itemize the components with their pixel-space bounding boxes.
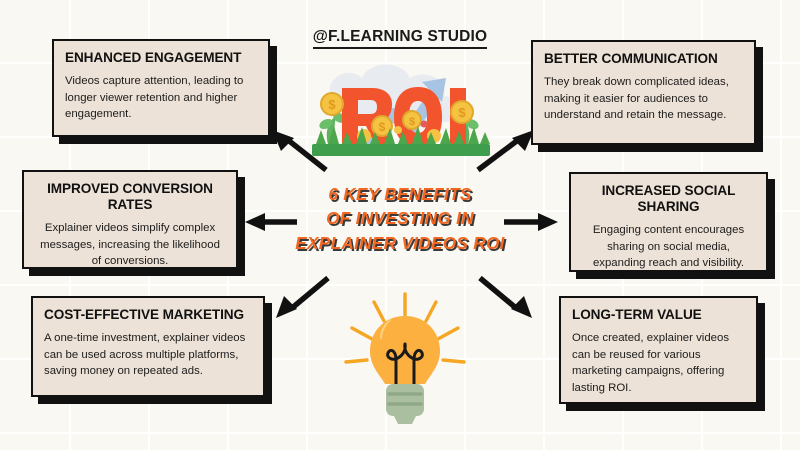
arrow-left bbox=[243, 210, 299, 234]
bulb-base bbox=[386, 384, 424, 424]
benefit-card-long-term-value[interactable]: LONG-TERM VALUE Once created, explainer … bbox=[559, 296, 758, 404]
svg-text:$: $ bbox=[328, 97, 336, 112]
roi-growth-illustration: $ $ $ $ bbox=[306, 52, 496, 162]
benefit-card-title: COST-EFFECTIVE MARKETING bbox=[44, 307, 252, 323]
arrow-up-left bbox=[268, 128, 334, 176]
benefit-card-body: A one-time investment, explainer videos … bbox=[44, 330, 252, 380]
arrow-down-right bbox=[474, 272, 536, 320]
benefit-card-body: Explainer videos simplify complex messag… bbox=[35, 220, 225, 270]
studio-handle-text: @F.LEARNING STUDIO bbox=[313, 28, 488, 49]
main-title-line-1: 6 KEY BENEFITS bbox=[276, 182, 524, 206]
benefit-card-improved-conversion-rates[interactable]: IMPROVED CONVERSION RATES Explainer vide… bbox=[22, 170, 238, 269]
lightbulb-idea-illustration bbox=[340, 288, 470, 430]
benefit-card-body: They break down complicated ideas, makin… bbox=[544, 74, 743, 124]
benefit-card-better-communication[interactable]: BETTER COMMUNICATION They break down com… bbox=[531, 40, 756, 145]
benefit-card-title: IMPROVED CONVERSION RATES bbox=[35, 181, 225, 213]
coin-icon: $ bbox=[403, 111, 421, 129]
coin-icon: $ bbox=[321, 93, 343, 115]
svg-text:$: $ bbox=[458, 105, 466, 120]
benefit-card-title: ENHANCED ENGAGEMENT bbox=[65, 50, 257, 66]
benefit-card-enhanced-engagement[interactable]: ENHANCED ENGAGEMENT Videos capture atten… bbox=[52, 39, 270, 137]
coin-icon: $ bbox=[451, 101, 473, 123]
main-title-line-3: EXPLAINER VIDEOS ROI bbox=[276, 231, 524, 255]
svg-text:$: $ bbox=[409, 116, 415, 128]
main-title: 6 KEY BENEFITS OF INVESTING IN EXPLAINER… bbox=[276, 182, 524, 255]
benefit-card-body: Engaging content encourages sharing on s… bbox=[582, 222, 755, 272]
benefit-card-title: BETTER COMMUNICATION bbox=[544, 51, 743, 67]
arrow-down-left bbox=[272, 272, 334, 320]
infographic-canvas: @F.LEARNING STUDIO bbox=[0, 0, 800, 450]
arrow-up-right bbox=[472, 128, 538, 176]
arrow-right bbox=[502, 210, 560, 234]
svg-text:$: $ bbox=[379, 120, 386, 134]
benefit-card-increased-social-sharing[interactable]: INCREASED SOCIAL SHARING Engaging conten… bbox=[569, 172, 768, 272]
flower-icon bbox=[394, 126, 402, 134]
benefit-card-title: LONG-TERM VALUE bbox=[572, 307, 745, 323]
benefit-card-title: INCREASED SOCIAL SHARING bbox=[582, 183, 755, 215]
benefit-card-cost-effective-marketing[interactable]: COST-EFFECTIVE MARKETING A one-time inve… bbox=[31, 296, 265, 397]
benefit-card-body: Once created, explainer videos can be re… bbox=[572, 330, 745, 397]
main-title-line-2: OF INVESTING IN bbox=[276, 206, 524, 230]
benefit-card-body: Videos capture attention, leading to lon… bbox=[65, 73, 257, 123]
flower-icon bbox=[421, 121, 428, 128]
